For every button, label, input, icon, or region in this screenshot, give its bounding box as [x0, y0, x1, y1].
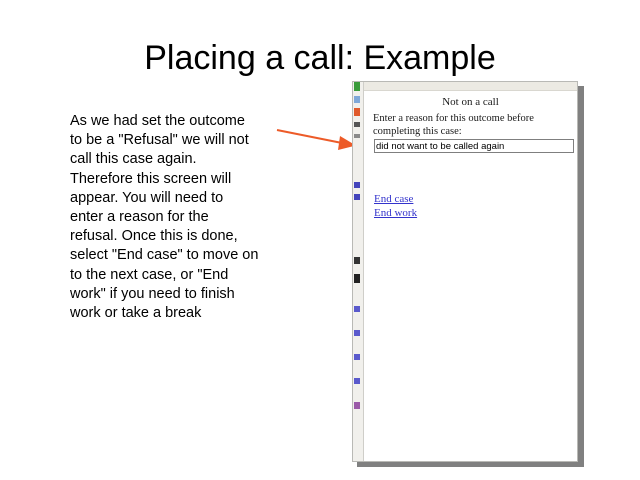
- cropped-ui-fragment: [354, 402, 360, 409]
- cropped-ui-fragment: [354, 274, 360, 283]
- cropped-ui-fragment: [354, 257, 360, 264]
- cropped-ui-fragment: [354, 194, 360, 200]
- cropped-ui-fragment: [354, 108, 360, 116]
- slide-body-text: As we had set the outcome to be a "Refus…: [70, 112, 260, 323]
- app-page-canvas: Not on a call Enter a reason for this ou…: [365, 92, 576, 460]
- reason-input[interactable]: [374, 139, 574, 153]
- app-page-heading: Not on a call: [365, 96, 576, 109]
- cropped-ui-fragment: [354, 182, 360, 188]
- cropped-ui-fragment: [354, 96, 360, 103]
- cropped-ui-strip: [353, 82, 364, 461]
- cropped-ui-fragment: [354, 306, 360, 312]
- cropped-ui-fragment: [354, 354, 360, 360]
- page-title: Placing a call: Example: [0, 38, 640, 78]
- arrow-right-icon: [268, 116, 364, 156]
- cropped-ui-fragment: [354, 122, 360, 127]
- end-case-link[interactable]: End case: [374, 193, 417, 207]
- end-work-link[interactable]: End work: [374, 207, 417, 221]
- cropped-ui-fragment: [354, 82, 360, 91]
- cropped-ui-fragment: [354, 330, 360, 336]
- cropped-ui-fragment: [354, 134, 360, 138]
- reason-prompt-label: Enter a reason for this outcome before c…: [373, 113, 575, 138]
- embedded-app-screenshot: Not on a call Enter a reason for this ou…: [352, 81, 578, 462]
- action-link-list: End case End work: [374, 193, 417, 220]
- cropped-ui-fragment: [354, 378, 360, 384]
- app-toolbar: [364, 82, 577, 91]
